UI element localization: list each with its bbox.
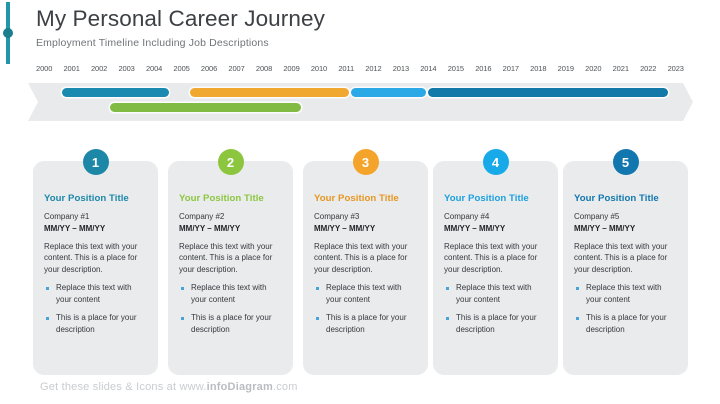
year-tick: 2013 (393, 64, 409, 80)
bullet-item: Replace this text with your content (179, 282, 283, 305)
year-tick: 2000 (36, 64, 52, 80)
year-tick: 2010 (311, 64, 327, 80)
year-tick: 2016 (475, 64, 491, 80)
bullet-item: This is a place for your description (44, 312, 148, 335)
bullet-list: Replace this text with your contentThis … (444, 282, 548, 335)
employment-period: MM/YY – MM/YY (314, 223, 418, 235)
bullet-item: Replace this text with your content (314, 282, 418, 305)
year-tick: 2012 (365, 64, 381, 80)
card-badge-number: 2 (218, 149, 244, 175)
job-description: Replace this text with your content. Thi… (574, 241, 678, 276)
year-tick: 2017 (503, 64, 519, 80)
employment-period: MM/YY – MM/YY (44, 223, 148, 235)
bar-5-dark-blue (428, 88, 667, 97)
year-tick: 2002 (91, 64, 107, 80)
year-tick: 2003 (118, 64, 134, 80)
employment-period: MM/YY – MM/YY (574, 223, 678, 235)
position-title: Your Position Title (314, 193, 418, 204)
job-description: Replace this text with your content. Thi… (314, 241, 418, 276)
position-title: Your Position Title (574, 193, 678, 204)
bullet-list: Replace this text with your contentThis … (179, 282, 283, 335)
year-tick: 2018 (530, 64, 546, 80)
card-badge-number: 4 (483, 149, 509, 175)
year-tick: 2006 (201, 64, 217, 80)
bullet-list: Replace this text with your contentThis … (574, 282, 678, 335)
career-card-3[interactable]: 3Your Position TitleCompany #3MM/YY – MM… (303, 161, 428, 375)
bullet-item: Replace this text with your content (574, 282, 678, 305)
bullet-item: Replace this text with your content (444, 282, 548, 305)
bullet-item: Replace this text with your content (44, 282, 148, 305)
year-tick: 2022 (640, 64, 656, 80)
career-cards: 1Your Position TitleCompany #1MM/YY – MM… (0, 150, 720, 380)
year-tick: 2001 (63, 64, 79, 80)
bullet-item: This is a place for your description (314, 312, 418, 335)
career-card-4[interactable]: 4Your Position TitleCompany #4MM/YY – MM… (433, 161, 558, 375)
year-tick: 2023 (668, 64, 684, 80)
bullet-item: This is a place for your description (179, 312, 283, 335)
career-card-2[interactable]: 2Your Position TitleCompany #2MM/YY – MM… (168, 161, 293, 375)
bar-1-teal (62, 88, 169, 97)
footer-credit: Get these slides & Icons at www.infoDiag… (40, 381, 298, 393)
page-title: My Personal Career Journey (36, 4, 676, 34)
bar-3-orange (190, 88, 348, 97)
company-name: Company #2 (179, 211, 283, 223)
card-badge-number: 1 (83, 149, 109, 175)
career-card-5[interactable]: 5Your Position TitleCompany #5MM/YY – MM… (563, 161, 688, 375)
year-tick: 2014 (420, 64, 436, 80)
year-tick: 2015 (448, 64, 464, 80)
company-name: Company #4 (444, 211, 548, 223)
header: My Personal Career Journey Employment Ti… (36, 4, 676, 49)
company-name: Company #3 (314, 211, 418, 223)
job-description: Replace this text with your content. Thi… (179, 241, 283, 276)
year-ruler: 2000200120022003200420052006200720082009… (36, 64, 684, 80)
bullet-item: This is a place for your description (574, 312, 678, 335)
card-body: Your Position TitleCompany #2MM/YY – MM/… (168, 161, 293, 336)
card-body: Your Position TitleCompany #5MM/YY – MM/… (563, 161, 688, 336)
year-tick: 2020 (585, 64, 601, 80)
footer-prefix: Get these slides & Icons at www. (40, 381, 207, 393)
card-badge-number: 3 (353, 149, 379, 175)
year-tick: 2009 (283, 64, 299, 80)
company-name: Company #5 (574, 211, 678, 223)
year-tick: 2011 (338, 64, 354, 80)
position-title: Your Position Title (444, 193, 548, 204)
bullet-list: Replace this text with your contentThis … (44, 282, 148, 335)
career-card-1[interactable]: 1Your Position TitleCompany #1MM/YY – MM… (33, 161, 158, 375)
timeline-arrow-band (28, 83, 693, 121)
card-body: Your Position TitleCompany #3MM/YY – MM/… (303, 161, 428, 336)
bar-4-light-blue (351, 88, 426, 97)
page-subtitle: Employment Timeline Including Job Descri… (36, 37, 676, 49)
employment-period: MM/YY – MM/YY (179, 223, 283, 235)
position-title: Your Position Title (44, 193, 148, 204)
job-description: Replace this text with your content. Thi… (444, 241, 548, 276)
footer-brand: infoDiagram (207, 381, 273, 393)
bar-2-green (110, 103, 301, 112)
year-tick: 2004 (146, 64, 162, 80)
bullet-item: This is a place for your description (444, 312, 548, 335)
left-edge-accent-dot (3, 28, 13, 38)
employment-period: MM/YY – MM/YY (444, 223, 548, 235)
year-tick: 2019 (558, 64, 574, 80)
year-tick: 2005 (173, 64, 189, 80)
timeline-bar-track (28, 83, 693, 121)
card-body: Your Position TitleCompany #1MM/YY – MM/… (33, 161, 158, 336)
job-description: Replace this text with your content. Thi… (44, 241, 148, 276)
year-tick: 2021 (613, 64, 629, 80)
footer-suffix: .com (273, 381, 298, 393)
bullet-list: Replace this text with your contentThis … (314, 282, 418, 335)
year-tick: 2007 (228, 64, 244, 80)
position-title: Your Position Title (179, 193, 283, 204)
card-body: Your Position TitleCompany #4MM/YY – MM/… (433, 161, 558, 336)
year-tick: 2008 (256, 64, 272, 80)
card-badge-number: 5 (613, 149, 639, 175)
company-name: Company #1 (44, 211, 148, 223)
